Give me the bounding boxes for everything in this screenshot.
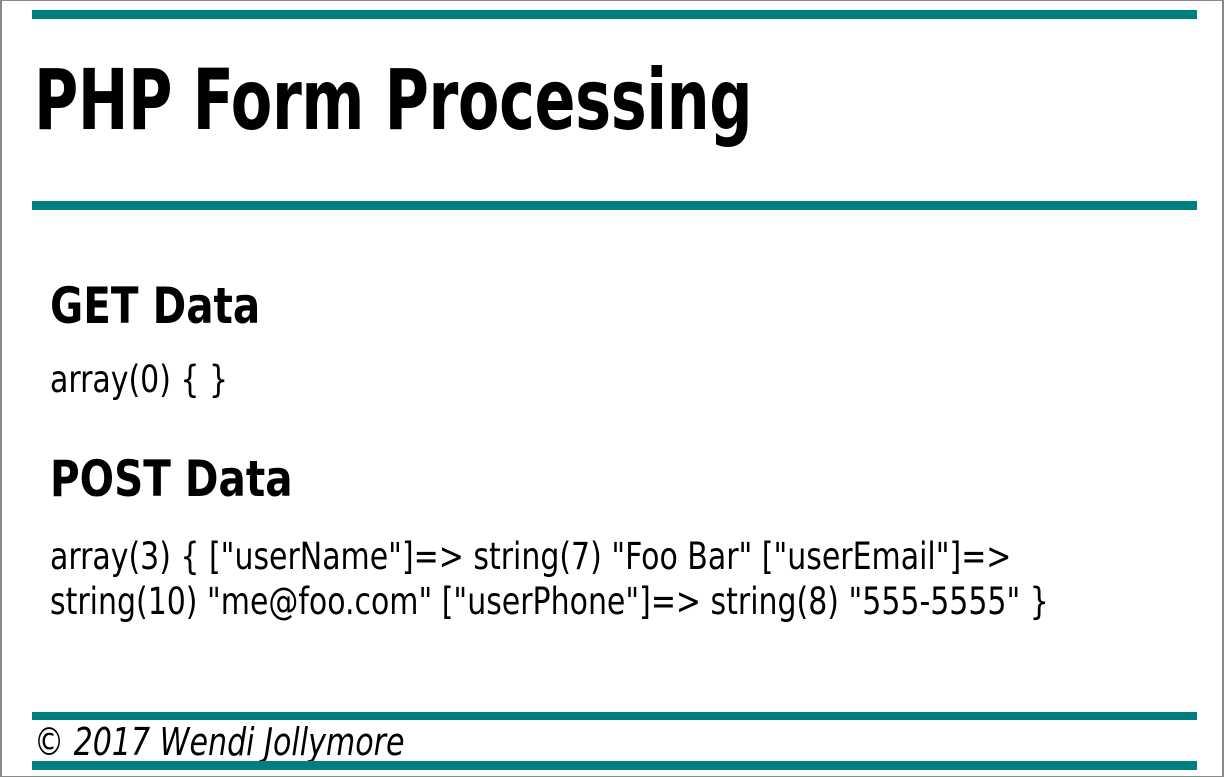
accent-rule-top [32,10,1197,19]
title-area: PHP Form Processing [34,58,1174,178]
spacer [50,402,1180,454]
section-post-data: POST Data array(3) { ["userName"]=> stri… [50,454,1180,624]
footer: © 2017 Wendi Jollymore [34,723,1174,763]
spacer [50,504,1180,534]
slide: PHP Form Processing GET Data array(0) { … [0,0,1224,777]
accent-rule-footer-bottom [32,761,1197,770]
page-title: PHP Form Processing [34,58,946,142]
get-data-output-line: array(0) { } [50,357,1067,402]
accent-rule-under-title [32,201,1197,210]
accent-rule-footer-top [32,712,1197,720]
copyright-notice: © 2017 Wendi Jollymore [34,723,1037,761]
slide-body: GET Data array(0) { } POST Data array(3)… [50,281,1180,624]
post-data-output-line-2: string(10) "me@foo.com" ["userPhone"]=> … [50,579,1067,624]
section-get-data: GET Data array(0) { } [50,281,1180,402]
section-heading-get: GET Data [50,281,1067,331]
section-heading-post: POST Data [50,454,1067,504]
post-data-output-line-1: array(3) { ["userName"]=> string(7) "Foo… [50,534,1067,579]
